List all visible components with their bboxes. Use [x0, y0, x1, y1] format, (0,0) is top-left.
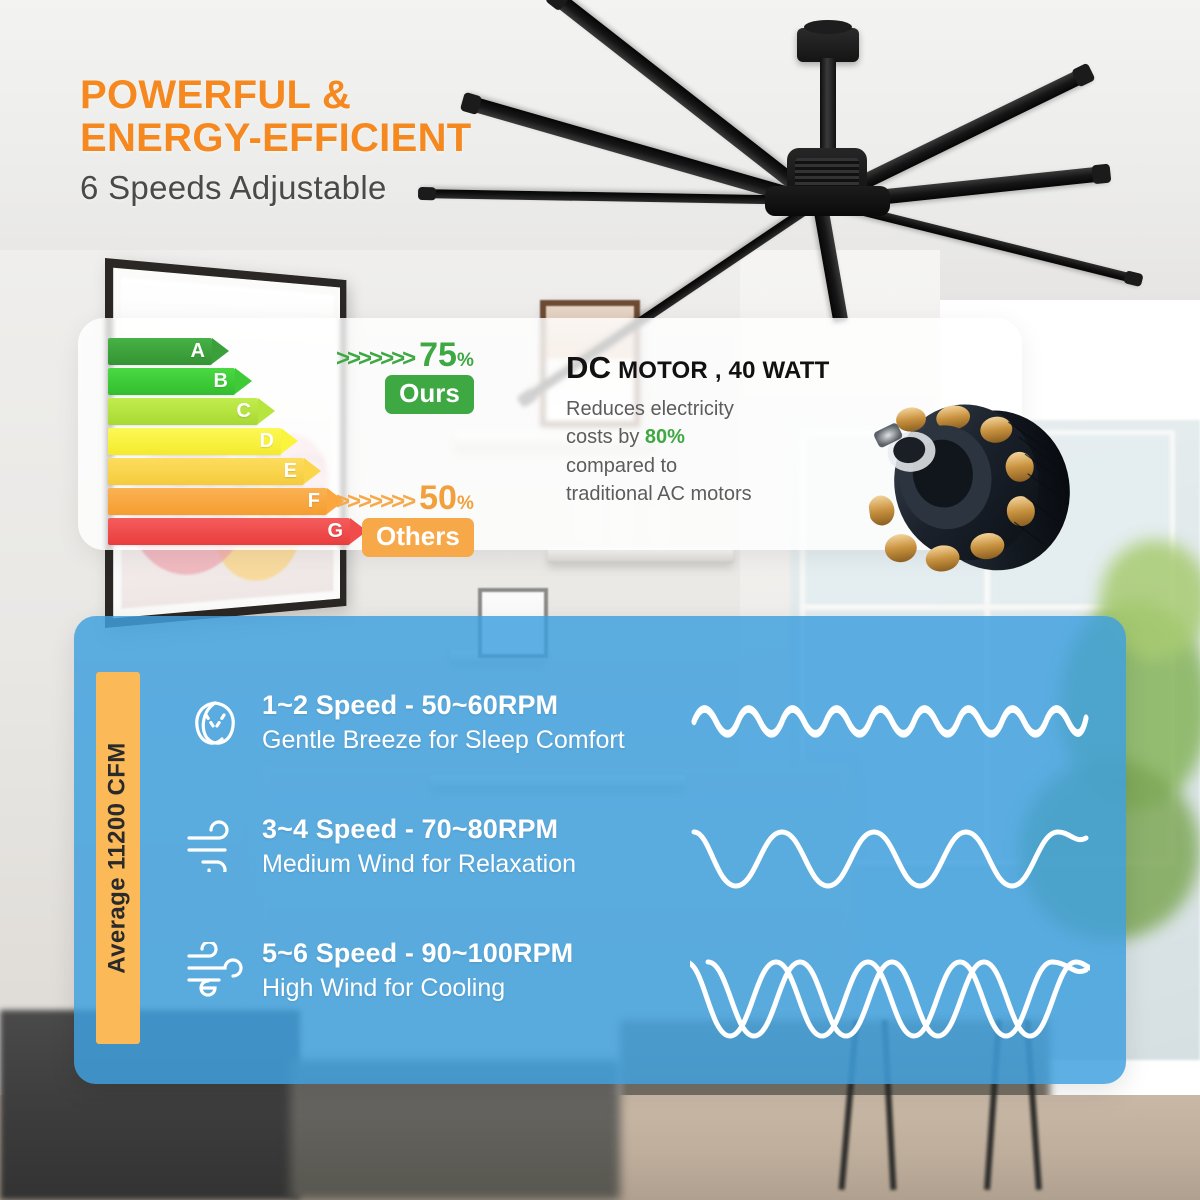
speed-title: 3~4 Speed - 70~80RPM [262, 814, 688, 845]
speed-text-high: 5~6 Speed - 90~100RPM High Wind for Cool… [262, 938, 688, 1003]
speed-rows: 1~2 Speed - 50~60RPM Gentle Breeze for S… [168, 660, 688, 1032]
energy-bar-d: D [108, 428, 281, 455]
chevrons-icon: >>>>>>> [336, 347, 413, 371]
others-badge: Others [362, 518, 474, 557]
energy-bar-label: B [214, 370, 235, 393]
energy-bar-a: A [108, 338, 212, 365]
wave-low-speed [690, 678, 1090, 788]
energy-bar-label: A [191, 340, 212, 363]
energy-bar-row: B [108, 368, 358, 395]
energy-bar-c: C [108, 398, 258, 425]
energy-bar-label: E [284, 460, 304, 483]
energy-bar-row: C [108, 398, 358, 425]
speed-row-low: 1~2 Speed - 50~60RPM Gentle Breeze for S… [168, 660, 688, 784]
ours-badge: Ours [385, 375, 474, 414]
motor-desc-line-3: compared to [566, 452, 876, 480]
motor-description: Reduces electricity costs by 80% compare… [566, 395, 876, 509]
energy-bar-label: F [308, 490, 327, 513]
infographic-stage: BSG POWERFUL & ENERGY-EFFICIENT 6 Speeds… [0, 0, 1200, 1200]
energy-bar-label: D [260, 430, 281, 453]
speed-subtitle: Medium Wind for Relaxation [262, 850, 688, 879]
strong-wind-icon [168, 942, 262, 998]
ours-percent: 75% [419, 340, 474, 371]
energy-bar-row: E [108, 458, 358, 485]
speed-text-low: 1~2 Speed - 50~60RPM Gentle Breeze for S… [262, 690, 688, 755]
energy-bar-row: F [108, 488, 358, 515]
motor-text-block: DC MOTOR , 40 WATT Reduces electricity c… [566, 350, 876, 509]
comparison-ours: >>>>>>> 75% Ours [336, 340, 474, 414]
fan-blade-plate [765, 186, 890, 216]
cfm-label: Average 11200 CFM [96, 672, 140, 1044]
speed-subtitle: High Wind for Cooling [262, 974, 688, 1003]
energy-bar-row: A [108, 338, 358, 365]
wind-icon [168, 820, 262, 872]
motor-desc-line-1: Reduces electricity [566, 395, 876, 423]
speed-text-medium: 3~4 Speed - 70~80RPM Medium Wind for Rel… [262, 814, 688, 879]
wave-medium-speed [690, 808, 1090, 918]
chevrons-icon: >>>>>>> [336, 490, 413, 514]
fan-downrod [820, 58, 836, 158]
motor-desc-line-2: costs by 80% [566, 423, 876, 451]
energy-bar-label: C [237, 400, 258, 423]
energy-bar-row: G [108, 518, 358, 545]
energy-bar-b: B [108, 368, 235, 395]
energy-bar-g: G [108, 518, 350, 545]
comparison-others: >>>>>>> 50% Others [336, 483, 474, 557]
cfm-label-text: Average 11200 CFM [104, 742, 132, 973]
leaf-icon [168, 693, 262, 751]
speed-subtitle: Gentle Breeze for Sleep Comfort [262, 726, 688, 755]
speed-row-high: 5~6 Speed - 90~100RPM High Wind for Cool… [168, 908, 688, 1032]
energy-rating-chart: A B C D E F [108, 338, 358, 548]
speed-title: 5~6 Speed - 90~100RPM [262, 938, 688, 969]
headline-block: POWERFUL & ENERGY-EFFICIENT 6 Speeds Adj… [80, 74, 472, 207]
fan-ceiling-mount [797, 28, 859, 62]
wave-high-speed [690, 936, 1090, 1066]
energy-bar-row: D [108, 428, 358, 455]
energy-bar-f: F [108, 488, 327, 515]
headline-subtitle: 6 Speeds Adjustable [80, 169, 472, 207]
speed-title: 1~2 Speed - 50~60RPM [262, 690, 688, 721]
fan-blade [547, 0, 824, 209]
motor-title: DC MOTOR , 40 WATT [566, 350, 876, 386]
headline-line-2: ENERGY-EFFICIENT [80, 117, 472, 160]
others-percent: 50% [419, 483, 474, 514]
headline-line-1: POWERFUL & [80, 74, 472, 117]
energy-bar-e: E [108, 458, 304, 485]
motor-title-strong: DC [566, 350, 611, 385]
dc-motor-stator-photo [853, 369, 1084, 592]
speed-row-medium: 3~4 Speed - 70~80RPM Medium Wind for Rel… [168, 784, 688, 908]
motor-highlight: 80% [645, 426, 685, 448]
motor-desc-line-4: traditional AC motors [566, 480, 876, 508]
motor-title-rest: MOTOR , 40 WATT [618, 357, 829, 384]
wall-shelf [548, 548, 733, 563]
wave-graphics [690, 636, 1090, 1066]
